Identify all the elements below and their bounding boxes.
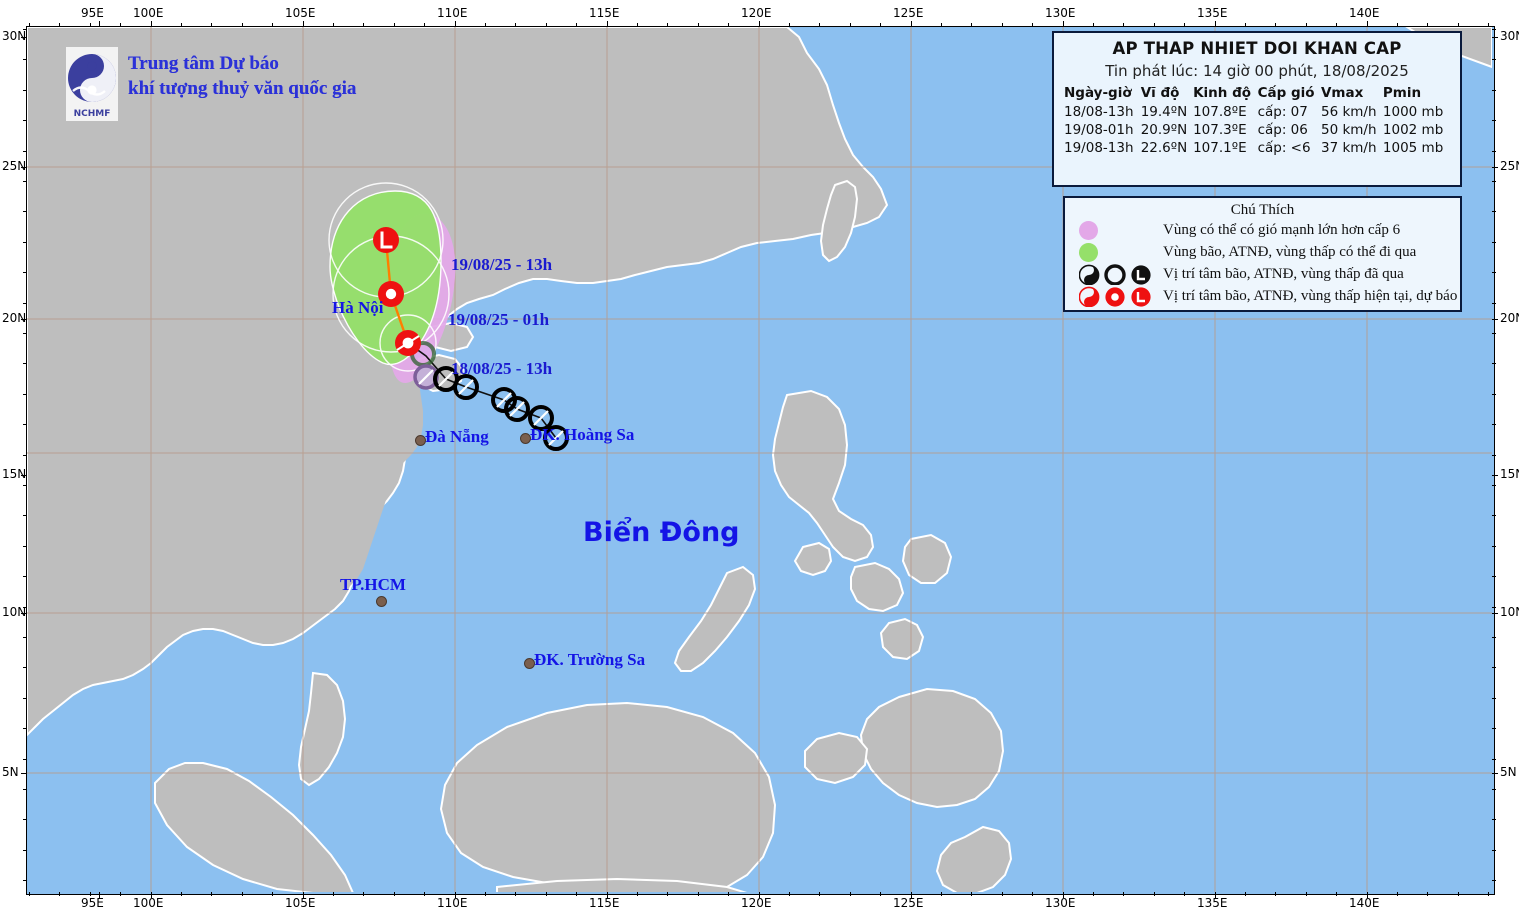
lon-tick-label-120E-top: 120E [741,6,772,20]
lat-tick-label-25N-left: 25N [2,159,26,173]
legend-label-wind-area: Vùng có thể có gió mạnh lớn hơn cấp 6 [1163,222,1400,239]
col-header-lon: Kinh độ [1193,85,1257,103]
lat-minor-tick [23,120,27,121]
lon-minor-tick [637,23,638,27]
lon-minor-tick [151,892,152,896]
lon-minor-tick [698,23,699,27]
cell-datetime: 19/08-13h [1064,139,1141,157]
red-ring-icon [1105,287,1124,306]
lon-minor-tick [242,23,243,27]
lat-tick-label-10N-right: 10N [1500,605,1519,619]
lon-tick-label-135E-bottom: 135E [1197,896,1228,910]
lon-minor-tick [485,23,486,27]
city-label-tphcm: TP.HCM [340,575,406,595]
cell-lon: 107.8ºE [1193,103,1257,121]
cell-windlevel: cấp: 07 [1258,103,1321,121]
lon-minor-tick [850,892,851,896]
lon-tick-label-110E-top: 110E [437,6,468,20]
lat-tick-label-25N-right: 25N [1500,159,1519,173]
forecast-label-19-13h: 19/08/25 - 13h [451,255,552,275]
lon-minor-tick [637,892,638,896]
lat-minor-tick [23,59,27,60]
samar-island [903,535,951,583]
lat-minor-tick [23,424,27,425]
lon-tick-label-125E-bottom: 125E [893,896,924,910]
lat-tick-25N-right [1492,167,1498,168]
lat-minor-tick [1492,90,1496,91]
black-cyclone-icon [1079,265,1099,285]
lon-minor-tick [242,892,243,896]
col-header-pmin: Pmin [1383,85,1450,103]
lon-minor-tick [333,23,334,27]
lon-minor-tick [59,892,60,896]
table-row: 19/08-01h 20.9ºN 107.3ºE cấp: 06 50 km/h… [1064,121,1450,139]
lon-minor-tick [272,23,273,27]
cell-datetime: 19/08-01h [1064,121,1141,139]
forecast-table: Ngày-giờ Vĩ độ Kinh độ Cấp gió Vmax Pmin… [1064,85,1450,157]
lon-minor-tick [728,23,729,27]
lon-minor-tick [941,892,942,896]
lat-minor-tick [1492,546,1496,547]
lat-minor-tick [23,211,27,212]
lon-minor-tick [1427,23,1428,27]
lon-minor-tick [1275,892,1276,896]
lon-minor-tick [941,23,942,27]
lon-minor-tick [1306,892,1307,896]
lon-tick-label-100E-bottom: 100E [133,896,164,910]
lon-minor-tick [151,23,152,27]
col-header-datetime: Ngày-giờ [1064,85,1141,103]
lon-minor-tick [971,892,972,896]
lon-tick-label-120E-bottom: 120E [741,896,772,910]
cell-windlevel: cấp: 06 [1258,121,1321,139]
lat-minor-tick [23,880,27,881]
black-ring-icon [1106,266,1124,284]
nchmf-logo-icon: NCHMF [66,47,118,121]
lon-minor-tick [211,892,212,896]
lat-minor-tick [23,728,27,729]
lon-minor-tick [1458,892,1459,896]
lon-minor-tick [728,892,729,896]
lat-minor-tick [23,29,27,30]
lon-minor-tick [120,23,121,27]
lon-minor-tick [1397,892,1398,896]
legend-label-track-area: Vùng bão, ATNĐ, vùng thấp có thể đi qua [1163,244,1416,261]
lon-minor-tick [1123,23,1124,27]
lat-minor-tick [23,576,27,577]
storm-info-title: AP THAP NHIET DOI KHAN CAP [1064,39,1450,58]
lon-minor-tick [1184,23,1185,27]
lon-minor-tick [272,892,273,896]
nchmf-branding: NCHMF Trung tâm Dự báo khí tượng thuỷ vă… [66,47,356,121]
lon-minor-tick [1336,892,1337,896]
lon-minor-tick [911,892,912,896]
lon-tick-label-100E-top: 100E [133,6,164,20]
lon-minor-tick [971,23,972,27]
lon-minor-tick [789,892,790,896]
city-label-danang: Đà Nẵng [425,427,489,447]
cell-vmax: 56 km/h [1321,103,1383,121]
lon-minor-tick [1306,23,1307,27]
cell-lon: 107.3ºE [1193,121,1257,139]
lon-minor-tick [698,892,699,896]
lat-minor-tick [1492,303,1496,304]
lat-tick-15N-right [1492,475,1498,476]
lon-minor-tick [1427,892,1428,896]
col-header-vmax: Vmax [1321,85,1383,103]
lat-minor-tick [23,90,27,91]
lat-tick-5N-right [1492,773,1498,774]
green-circle-icon [1079,243,1098,262]
lon-minor-tick [1488,23,1489,27]
marker-forecast-19-13h [373,227,399,253]
lon-minor-tick [1397,23,1398,27]
lon-tick-label-115E-top: 115E [589,6,620,20]
lat-minor-tick [23,515,27,516]
lon-minor-tick [394,23,395,27]
lat-minor-tick [23,789,27,790]
lat-tick-label-15N-left: 15N [2,467,26,481]
lon-minor-tick [546,23,547,27]
lat-minor-tick [23,151,27,152]
lon-minor-tick [1032,892,1033,896]
lon-minor-tick [576,23,577,27]
lon-minor-tick [29,23,30,27]
legend-title: Chú Thích [1065,198,1460,219]
lon-minor-tick [1184,892,1185,896]
legend-label-past-positions: Vị trí tâm bão, ATNĐ, vùng thấp đã qua [1163,266,1404,283]
lon-minor-tick [59,23,60,27]
storm-info-panel: AP THAP NHIET DOI KHAN CAP Tin phát lúc:… [1052,31,1462,187]
lat-minor-tick [1492,151,1496,152]
cell-lat: 19.4ºN [1141,103,1193,121]
red-L-icon [1131,287,1150,306]
lon-minor-tick [1367,892,1368,896]
purple-circle-icon [1079,221,1098,240]
lat-minor-tick [23,485,27,486]
lat-minor-tick [1492,728,1496,729]
lat-tick-15N-left [21,475,27,476]
city-label-hanoi: Hà Nội [332,298,383,318]
legend-item-track-area: Vùng bão, ATNĐ, vùng thấp có thể đi qua [1065,241,1460,263]
legend-symbol-red-set [1079,286,1163,307]
lat-tick-label-20N-right: 20N [1500,311,1519,325]
lat-minor-tick [1492,211,1496,212]
lat-minor-tick [23,759,27,760]
lon-minor-tick [1336,23,1337,27]
lon-minor-tick [424,892,425,896]
lon-minor-tick [880,23,881,27]
col-header-windlevel: Cấp gió [1258,85,1321,103]
lat-minor-tick [23,850,27,851]
lon-minor-tick [515,23,516,27]
lat-tick-30N-left [21,37,27,38]
lon-minor-tick [303,23,304,27]
cell-vmax: 50 km/h [1321,121,1383,139]
legend-item-current-positions: Vị trí tâm bão, ATNĐ, vùng thấp hiện tại… [1065,285,1460,307]
lon-minor-tick [1215,23,1216,27]
lon-minor-tick [90,892,91,896]
lon-minor-tick [1245,23,1246,27]
lon-minor-tick [363,23,364,27]
lat-tick-10N-right [1492,613,1498,614]
lon-tick-label-105E-bottom: 105E [285,896,316,910]
legend-item-wind-area: Vùng có thể có gió mạnh lớn hơn cấp 6 [1065,219,1460,241]
lon-tick-label-135E-top: 135E [1197,6,1228,20]
lat-minor-tick [23,607,27,608]
lat-minor-tick [1492,272,1496,273]
lon-minor-tick [1154,892,1155,896]
lon-minor-tick [1002,892,1003,896]
lon-tick-label-110E-bottom: 110E [437,896,468,910]
lat-minor-tick [23,181,27,182]
cell-vmax: 37 km/h [1321,139,1383,157]
lat-tick-20N-right [1492,319,1498,320]
lat-minor-tick [23,272,27,273]
lat-minor-tick [23,394,27,395]
lon-minor-tick [455,23,456,27]
lon-minor-tick [607,23,608,27]
lat-minor-tick [1492,424,1496,425]
lon-minor-tick [211,23,212,27]
lat-minor-tick [23,333,27,334]
lat-minor-tick [1492,819,1496,820]
lat-tick-label-15N-right: 15N [1500,467,1519,481]
legend-symbol-green-circle [1079,243,1163,262]
lat-minor-tick [1492,515,1496,516]
city-label-hoangsa: ĐK. Hoàng Sa [530,425,634,445]
cell-lat: 22.6ºN [1141,139,1193,157]
lon-minor-tick [789,23,790,27]
lat-minor-tick [1492,394,1496,395]
lat-minor-tick [1492,363,1496,364]
lat-minor-tick [1492,59,1496,60]
lat-minor-tick [1492,120,1496,121]
lon-minor-tick [880,892,881,896]
lon-minor-tick [1002,23,1003,27]
map-legend-panel: Chú Thích Vùng có thể có gió mạnh lớn hơ… [1063,196,1462,312]
legend-symbol-black-set [1079,264,1163,285]
red-cyclone-icon [1079,287,1099,307]
lat-tick-20N-left [21,319,27,320]
lon-minor-tick [1123,892,1124,896]
lat-tick-25N-left [21,167,27,168]
cell-pmin: 1002 mb [1383,121,1450,139]
cell-windlevel: cấp: <6 [1258,139,1321,157]
lon-minor-tick [759,892,760,896]
lon-minor-tick [1093,23,1094,27]
lon-tick-label-140E-top: 140E [1349,6,1380,20]
lon-minor-tick [303,892,304,896]
lat-minor-tick [23,242,27,243]
lat-minor-tick [23,819,27,820]
lat-minor-tick [1492,637,1496,638]
lat-minor-tick [23,667,27,668]
lon-minor-tick [363,892,364,896]
lon-minor-tick [1275,23,1276,27]
storm-forecast-map-page: 19/08/25 - 13h 19/08/25 - 01h 18/08/25 -… [0,0,1519,919]
storm-info-subtitle: Tin phát lúc: 14 giờ 00 phút, 18/08/2025 [1064,62,1450,80]
lat-tick-label-20N-left: 20N [2,311,26,325]
lon-tick-label-95E-top: 95E [81,6,104,20]
lon-minor-tick [333,892,334,896]
org-name-line1: Trung tâm Dự báo [128,51,356,76]
lon-minor-tick [819,23,820,27]
lon-tick-label-125E-top: 125E [893,6,924,20]
forecast-label-19-01h: 19/08/25 - 01h [448,310,549,330]
lon-minor-tick [29,892,30,896]
lat-minor-tick [1492,29,1496,30]
lon-tick-label-95E-bottom: 95E [81,896,104,910]
lat-minor-tick [23,363,27,364]
lat-tick-5N-left [21,773,27,774]
cell-datetime: 18/08-13h [1064,103,1141,121]
lat-tick-label-5N-left: 5N [2,765,19,779]
lon-minor-tick [607,892,608,896]
cell-pmin: 1000 mb [1383,103,1450,121]
lon-minor-tick [850,23,851,27]
marker-current-18-13h [395,330,421,356]
lat-minor-tick [1492,759,1496,760]
city-label-truongsa: ĐK. Trường Sa [534,650,645,670]
lon-minor-tick [1063,23,1064,27]
lat-minor-tick [1492,576,1496,577]
lon-minor-tick [667,892,668,896]
lon-tick-label-115E-bottom: 115E [589,896,620,910]
cell-lat: 20.9ºN [1141,121,1193,139]
lat-minor-tick [1492,333,1496,334]
lon-minor-tick [394,892,395,896]
lat-minor-tick [1492,880,1496,881]
table-row: 19/08-13h 22.6ºN 107.1ºE cấp: <6 37 km/h… [1064,139,1450,157]
lon-tick-label-130E-top: 130E [1045,6,1076,20]
lon-minor-tick [120,892,121,896]
svg-text:NCHMF: NCHMF [74,109,111,119]
lon-minor-tick [1215,892,1216,896]
lat-tick-label-30N-left: 30N [2,29,26,43]
org-name-line2: khí tượng thuỷ văn quốc gia [128,76,356,101]
legend-label-current-positions: Vị trí tâm bão, ATNĐ, vùng thấp hiện tại… [1163,288,1457,305]
city-dot-tphcm [376,596,387,607]
lat-minor-tick [1492,850,1496,851]
lat-minor-tick [1492,455,1496,456]
lat-minor-tick [23,546,27,547]
lat-minor-tick [1492,698,1496,699]
lon-minor-tick [819,892,820,896]
lon-minor-tick [424,23,425,27]
lon-minor-tick [90,23,91,27]
lon-tick-95E-bottom [99,892,100,898]
legend-symbol-purple-circle [1079,221,1163,240]
lon-minor-tick [1458,23,1459,27]
forecast-table-header-row: Ngày-giờ Vĩ độ Kinh độ Cấp gió Vmax Pmin [1064,85,1450,103]
lon-minor-tick [759,23,760,27]
lat-minor-tick [1492,242,1496,243]
sea-label-bien-dong: Biển Đông [583,517,740,548]
lat-minor-tick [1492,607,1496,608]
lon-minor-tick [1032,23,1033,27]
lon-minor-tick [515,892,516,896]
lat-minor-tick [1492,485,1496,486]
lon-tick-label-140E-bottom: 140E [1349,896,1380,910]
cell-pmin: 1005 mb [1383,139,1450,157]
lat-minor-tick [1492,181,1496,182]
lat-tick-30N-right [1492,37,1498,38]
lon-minor-tick [181,892,182,896]
lon-tick-label-130E-bottom: 130E [1045,896,1076,910]
lon-tick-95E-top [99,21,100,27]
lon-tick-label-105E-top: 105E [285,6,316,20]
col-header-lat: Vĩ độ [1141,85,1193,103]
lon-minor-tick [546,892,547,896]
lat-minor-tick [1492,789,1496,790]
lon-minor-tick [181,23,182,27]
lat-minor-tick [23,455,27,456]
lat-minor-tick [23,637,27,638]
lon-minor-tick [1488,892,1489,896]
lon-minor-tick [1154,23,1155,27]
lon-minor-tick [455,892,456,896]
lat-tick-10N-left [21,613,27,614]
lon-minor-tick [667,23,668,27]
lat-tick-label-5N-right: 5N [1500,765,1517,779]
lon-minor-tick [1093,892,1094,896]
lat-minor-tick [23,698,27,699]
lon-minor-tick [1245,892,1246,896]
table-row: 18/08-13h 19.4ºN 107.8ºE cấp: 07 56 km/h… [1064,103,1450,121]
cell-lon: 107.1ºE [1193,139,1257,157]
lat-minor-tick [23,303,27,304]
lon-minor-tick [911,23,912,27]
black-L-icon [1131,265,1150,284]
lon-minor-tick [576,892,577,896]
lon-minor-tick [485,892,486,896]
lon-minor-tick [1367,23,1368,27]
lat-tick-label-30N-right: 30N [1500,29,1519,43]
lat-minor-tick [1492,667,1496,668]
forecast-label-18-13h: 18/08/25 - 13h [451,359,552,379]
legend-item-past-positions: Vị trí tâm bão, ATNĐ, vùng thấp đã qua [1065,263,1460,285]
lon-minor-tick [1063,892,1064,896]
